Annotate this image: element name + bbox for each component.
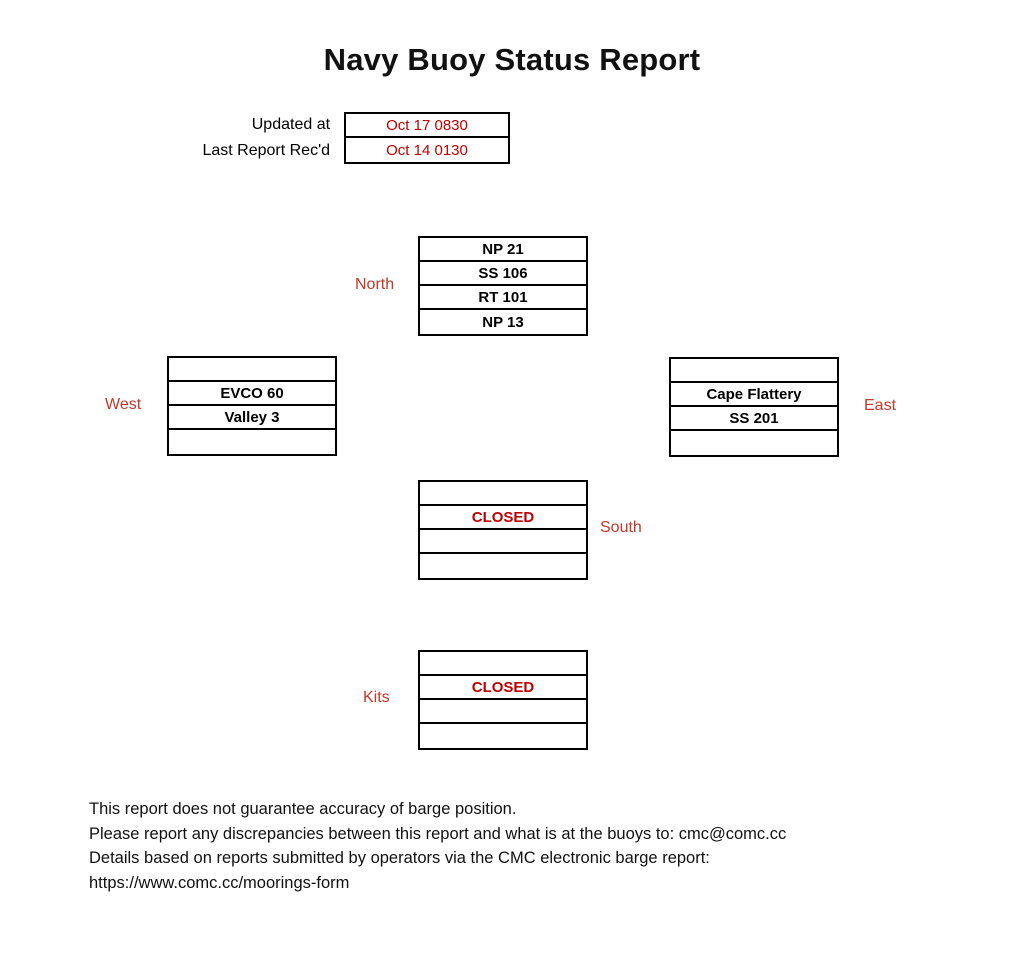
buoy-slot[interactable] bbox=[671, 431, 837, 455]
footer-notes: This report does not guarantee accuracy … bbox=[89, 797, 949, 895]
buoy-slot[interactable]: NP 13 bbox=[420, 310, 586, 334]
last-report-received-label: Last Report Rec'd bbox=[170, 138, 344, 164]
update-status-block: Updated at Oct 17 0830 Last Report Rec'd… bbox=[170, 112, 510, 168]
buoy-slot[interactable]: RT 101 bbox=[420, 286, 586, 310]
buoy-slot[interactable] bbox=[169, 358, 335, 382]
footer-line-contact: Please report any discrepancies between … bbox=[89, 822, 949, 847]
buoy-slot[interactable] bbox=[420, 530, 586, 554]
buoy-group-east: Cape Flattery SS 201 bbox=[669, 357, 839, 457]
direction-label-north: North bbox=[355, 276, 394, 294]
buoy-group-north: NP 21 SS 106 RT 101 NP 13 bbox=[418, 236, 588, 336]
buoy-slot[interactable] bbox=[420, 482, 586, 506]
buoy-slot[interactable] bbox=[420, 724, 586, 748]
update-row: Updated at Oct 17 0830 bbox=[170, 112, 510, 138]
direction-label-south: South bbox=[600, 519, 642, 537]
updated-at-label: Updated at bbox=[170, 112, 344, 138]
buoy-slot[interactable] bbox=[420, 554, 586, 578]
buoy-slot[interactable]: EVCO 60 bbox=[169, 382, 335, 406]
buoy-group-west: EVCO 60 Valley 3 bbox=[167, 356, 337, 456]
buoy-slot[interactable] bbox=[671, 359, 837, 383]
buoy-slot[interactable]: Cape Flattery bbox=[671, 383, 837, 407]
updated-at-value[interactable]: Oct 17 0830 bbox=[344, 112, 510, 138]
buoy-slot[interactable]: Valley 3 bbox=[169, 406, 335, 430]
status-badge-closed[interactable]: CLOSED bbox=[420, 506, 586, 530]
direction-label-kits: Kits bbox=[363, 689, 390, 707]
buoy-group-kits: CLOSED bbox=[418, 650, 588, 750]
update-row: Last Report Rec'd Oct 14 0130 bbox=[170, 138, 510, 164]
buoy-slot[interactable]: SS 106 bbox=[420, 262, 586, 286]
buoy-group-south: CLOSED bbox=[418, 480, 588, 580]
buoy-slot[interactable]: SS 201 bbox=[671, 407, 837, 431]
buoy-slot[interactable] bbox=[169, 430, 335, 454]
footer-line-url[interactable]: https://www.comc.cc/moorings-form bbox=[89, 871, 949, 896]
buoy-slot[interactable]: NP 21 bbox=[420, 238, 586, 262]
footer-line-disclaimer: This report does not guarantee accuracy … bbox=[89, 797, 949, 822]
buoy-slot[interactable] bbox=[420, 652, 586, 676]
buoy-slot[interactable] bbox=[420, 700, 586, 724]
direction-label-east: East bbox=[864, 397, 896, 415]
report-page: Navy Buoy Status Report Updated at Oct 1… bbox=[0, 0, 1024, 976]
direction-label-west: West bbox=[105, 396, 141, 414]
page-title: Navy Buoy Status Report bbox=[0, 42, 1024, 78]
last-report-received-value[interactable]: Oct 14 0130 bbox=[344, 138, 510, 164]
footer-line-details: Details based on reports submitted by op… bbox=[89, 846, 949, 871]
status-badge-closed[interactable]: CLOSED bbox=[420, 676, 586, 700]
